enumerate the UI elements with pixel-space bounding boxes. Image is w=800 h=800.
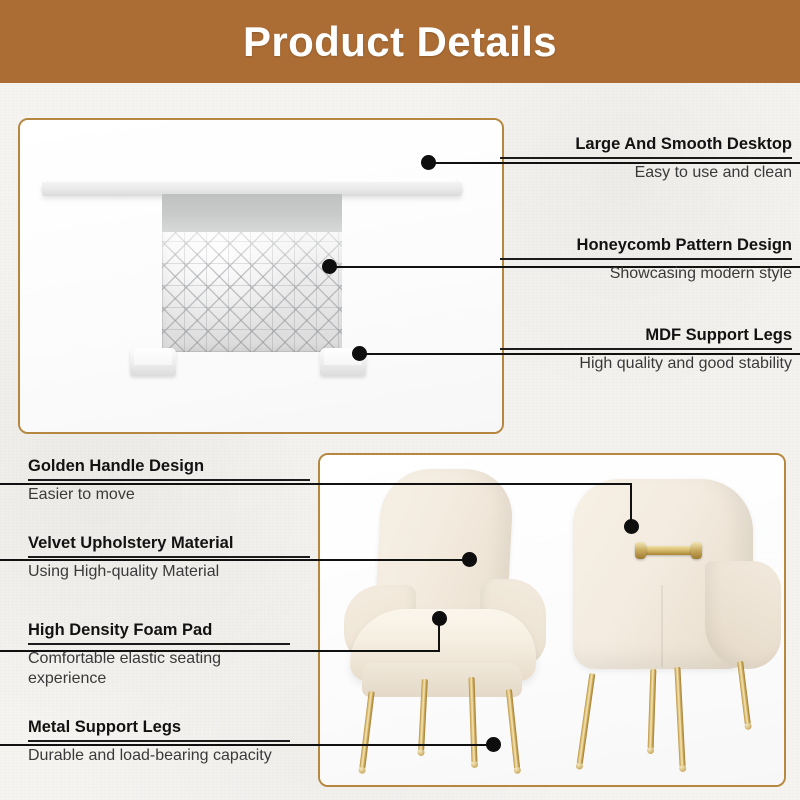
callout-divider [28,556,310,558]
callout-dot-mdf [352,346,367,361]
callout-subtitle: Easy to use and clean [500,163,792,182]
callout-title: Velvet Upholstery Material [28,534,310,553]
callout-honeycomb-pattern-design: Honeycomb Pattern Design Showcasing mode… [500,236,792,284]
callout-dot-handle [624,519,639,534]
chair-leg-front-right [506,689,520,769]
callout-mdf-support-legs: MDF Support Legs High quality and good s… [500,326,792,374]
connector-line-handle-vertical [630,483,632,523]
callout-subtitle: Using High-quality Material [28,562,310,581]
chair-side-wing [705,561,781,669]
golden-handle-cap-right [691,542,702,559]
callout-title: High Density Foam Pad [28,621,290,640]
callout-divider [500,348,792,350]
callout-velvet-upholstery-material: Velvet Upholstery Material Using High-qu… [28,534,310,582]
callout-dot-honeycomb [322,259,337,274]
chair-rear-view [565,473,780,778]
chair-leg-right [674,667,685,767]
product-details-infographic: Product Details [0,0,800,800]
callout-divider [28,740,290,742]
callout-subtitle: High quality and good stability [500,354,792,373]
callout-metal-support-legs: Metal Support Legs Durable and load-bear… [28,718,290,766]
header-banner: Product Details [0,0,800,83]
callout-dot-velvet [462,552,477,567]
table-pedestal-honeycomb [162,232,342,352]
chairs-photo-panel [318,453,786,787]
golden-handle-cap-left [635,542,646,559]
callout-subtitle: Easier to move [28,485,310,504]
callout-golden-handle-design: Golden Handle Design Easier to move [28,457,310,505]
chair-front-view [342,467,577,777]
page-title: Product Details [243,18,557,66]
chair-leg-mid [648,669,657,749]
callout-subtitle: Durable and load-bearing capacity [28,746,290,765]
callout-large-and-smooth-desktop: Large And Smooth Desktop Easy to use and… [500,135,792,183]
callout-divider [28,643,290,645]
chair-seat-skirt [362,663,522,697]
callout-title: MDF Support Legs [500,326,792,345]
chair-back-seam [661,585,663,667]
callout-dot-metal-legs [486,737,501,752]
callout-dot-desktop [421,155,436,170]
chair-leg-far-right [737,661,750,725]
callout-subtitle: Showcasing modern style [500,264,792,283]
table-pedestal-upper [162,194,342,234]
chair-leg-front-left [359,691,374,769]
callout-title: Metal Support Legs [28,718,290,737]
table-foot-left [130,348,176,376]
callout-title: Honeycomb Pattern Design [500,236,792,255]
callout-title: Large And Smooth Desktop [500,135,792,154]
pedestal-shading [162,232,342,352]
callout-dot-foam [432,611,447,626]
callout-subtitle: Comfortable elastic seating experience [28,649,290,687]
callout-divider [28,479,310,481]
callout-divider [500,258,792,260]
callout-title: Golden Handle Design [28,457,310,476]
callout-divider [500,157,792,159]
callout-high-density-foam-pad: High Density Foam Pad Comfortable elasti… [28,621,290,688]
golden-handle-icon [639,546,695,555]
chair-leg-left [577,673,596,765]
